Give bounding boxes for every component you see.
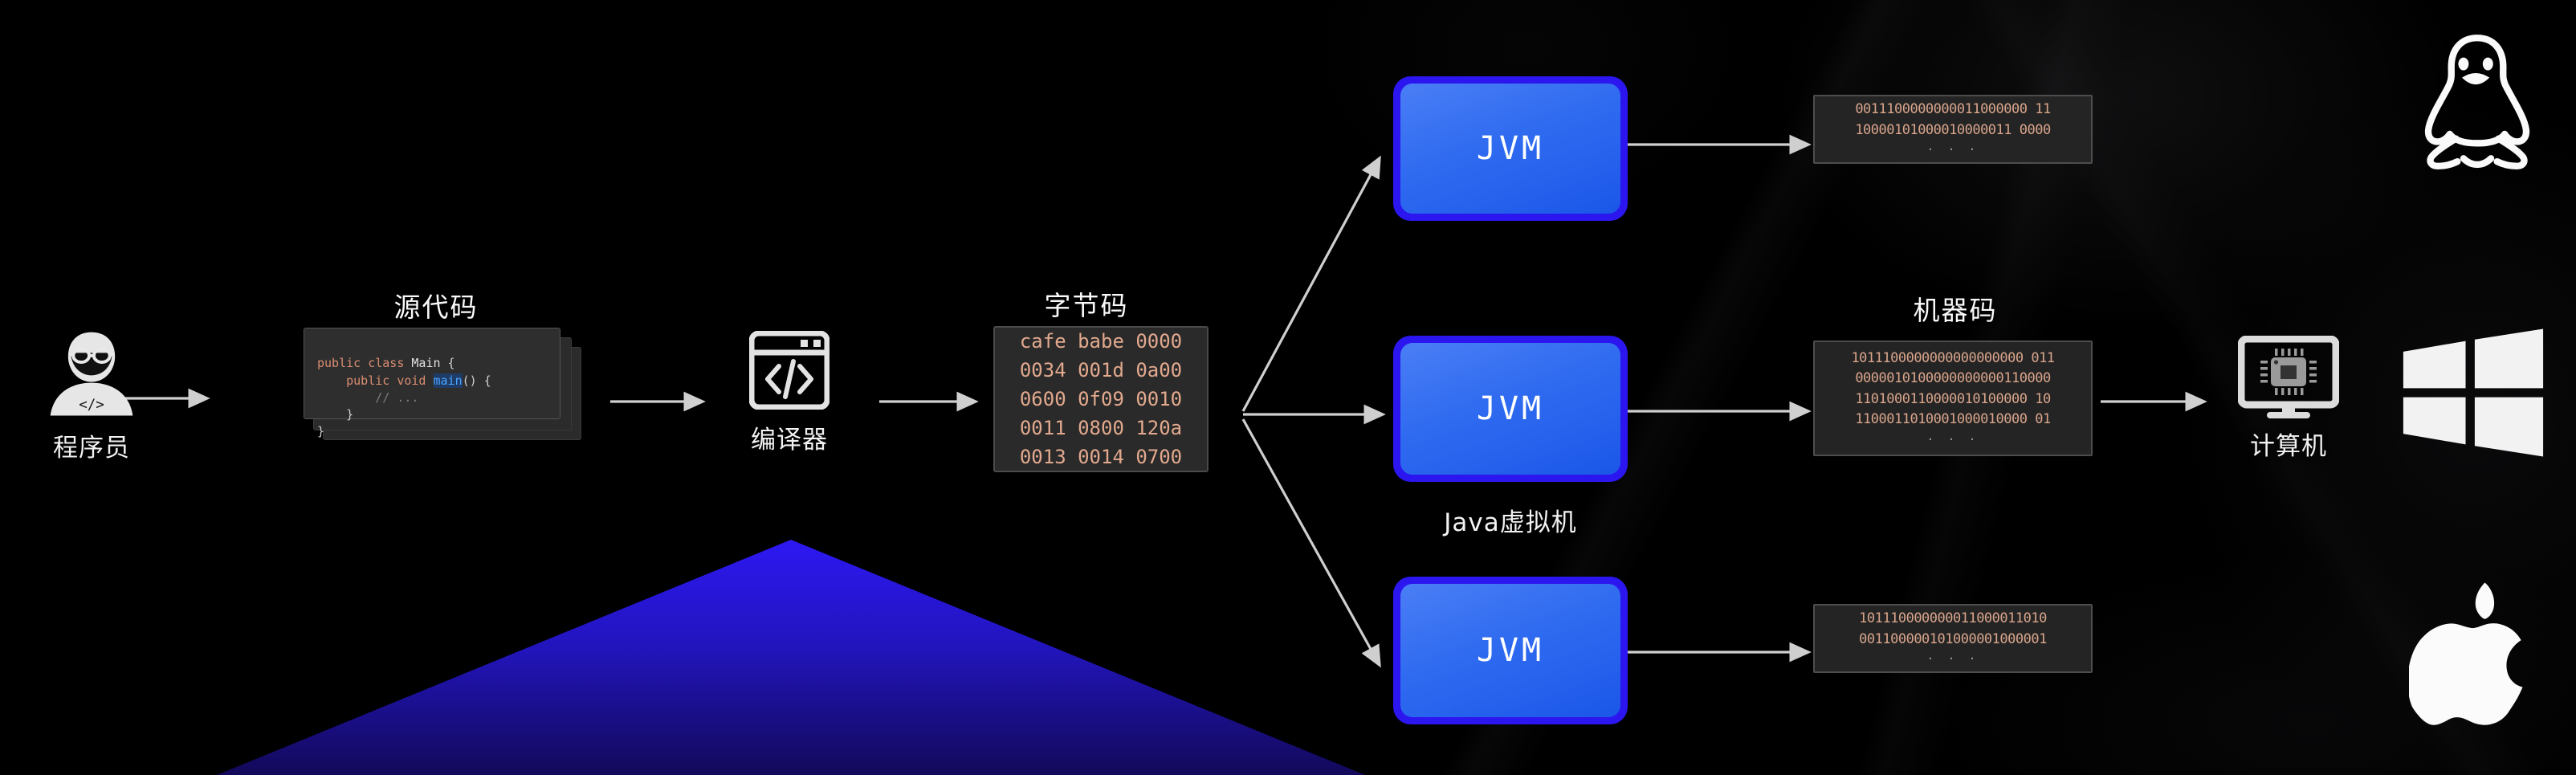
svg-text:</>: </> (79, 397, 104, 413)
jvm-middle-label: JVM (1400, 343, 1620, 475)
machine-code-line: 1100011010001000010000 01 (1821, 410, 2085, 430)
machine-code-line: 001100000101000001000001 (1821, 630, 2085, 651)
machine-code-macos: 101110000000011000011010 001100000101000… (1813, 604, 2093, 673)
jvm-caption: Java虚拟机 (1393, 502, 1628, 538)
machine-code-line: 101110000000011000011010 (1821, 609, 2085, 630)
jvm-bottom[interactable]: JVM (1393, 577, 1628, 724)
computer-node: 计算机 (2216, 336, 2361, 462)
machine-code-line: 1101000110000010100000 10 (1821, 390, 2085, 410)
machine-code-ellipsis: · · · (1821, 430, 2085, 449)
compiler-node: 编译器 (715, 331, 864, 455)
machine-code-linux: 0011100000000011000000 11 10000101000010… (1813, 95, 2093, 164)
bytecode-node: 字节码 cafe babe 0000 0034 001d 0a00 0600 0… (974, 284, 1199, 323)
tux-penguin-icon (2401, 22, 2554, 183)
programmer-node: </> 程序员 (35, 326, 148, 463)
monitor-cpu-icon (2238, 336, 2339, 419)
machine-code-ellipsis: · · · (1821, 141, 2085, 159)
blue-light-beam (0, 514, 2576, 775)
arrow-bytecode-to-jvm-bottom (1243, 419, 1380, 665)
jvm-top[interactable]: JVM (1393, 76, 1628, 221)
windows-flag-icon (2397, 321, 2550, 464)
machine-code-windows: 1011100000000000000000 011 0000010100000… (1813, 341, 2093, 456)
machine-code-ellipsis: · · · (1821, 650, 2085, 668)
machine-code-line: 0011100000000011000000 11 (1821, 100, 2085, 120)
bytecode-line: 0013 0014 0700 (995, 443, 1207, 471)
bytecode-line: cafe babe 0000 (995, 327, 1207, 356)
windows-logo (2397, 321, 2550, 467)
programmer-label: 程序员 (35, 427, 148, 463)
source-code-card-stack: public class Main { public void main() {… (304, 328, 583, 440)
programmer-avatar-icon: </> (35, 326, 148, 421)
machine-code-line: 1011100000000000000000 011 (1821, 349, 2085, 369)
jvm-bottom-label: JVM (1400, 584, 1620, 717)
bytecode-line: 0600 0f09 0010 (995, 385, 1207, 414)
bytecode-hex-dump: cafe babe 0000 0034 001d 0a00 0600 0f09 … (993, 326, 1209, 472)
machine-code-line: 10000101000010000011 0000 (1821, 120, 2085, 141)
compiler-label: 编译器 (715, 419, 864, 455)
machine-code-line: 0000010100000000000110000 (1821, 369, 2085, 390)
apple-logo (2409, 577, 2545, 737)
code-window-icon (749, 331, 829, 410)
apple-logo-icon (2409, 577, 2545, 734)
linux-logo (2401, 22, 2554, 186)
source-code-title: 源代码 (304, 286, 569, 324)
machine-code-title: 机器码 (1811, 289, 2100, 328)
jvm-top-label: JVM (1400, 84, 1620, 214)
arrow-bytecode-to-jvm-top (1243, 158, 1380, 411)
bytecode-line: 0011 0800 120a (995, 414, 1207, 443)
bytecode-title: 字节码 (974, 284, 1199, 323)
source-code-card: public class Main { public void main() {… (304, 328, 560, 419)
computer-label: 计算机 (2216, 426, 2361, 462)
source-code-node: 源代码 public class Main { public void main… (304, 286, 569, 324)
bytecode-line: 0034 001d 0a00 (995, 356, 1207, 385)
jvm-middle[interactable]: JVM (1393, 336, 1628, 482)
